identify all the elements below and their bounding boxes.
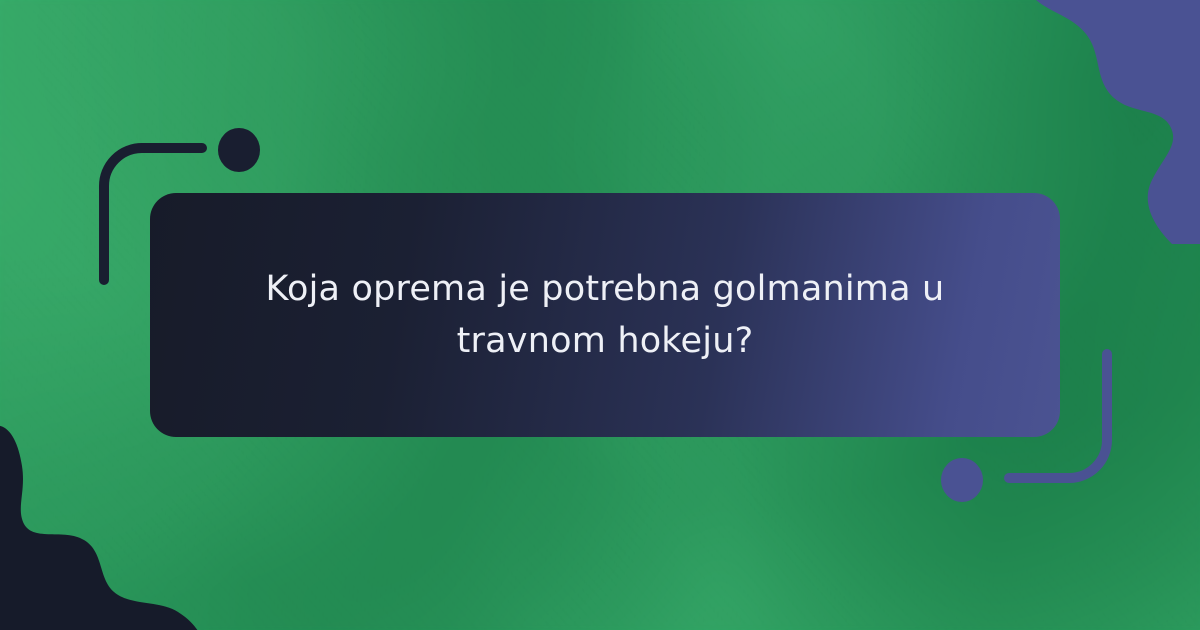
accent-dot-top-left [218, 128, 260, 172]
screenshot-stage: Koja oprema je potrebna golmanima u trav… [0, 0, 1200, 630]
question-text: Koja oprema je potrebna golmanima u trav… [255, 263, 955, 368]
accent-dot-bottom-right [941, 458, 983, 502]
question-card: Koja oprema je potrebna golmanima u trav… [150, 193, 1060, 437]
